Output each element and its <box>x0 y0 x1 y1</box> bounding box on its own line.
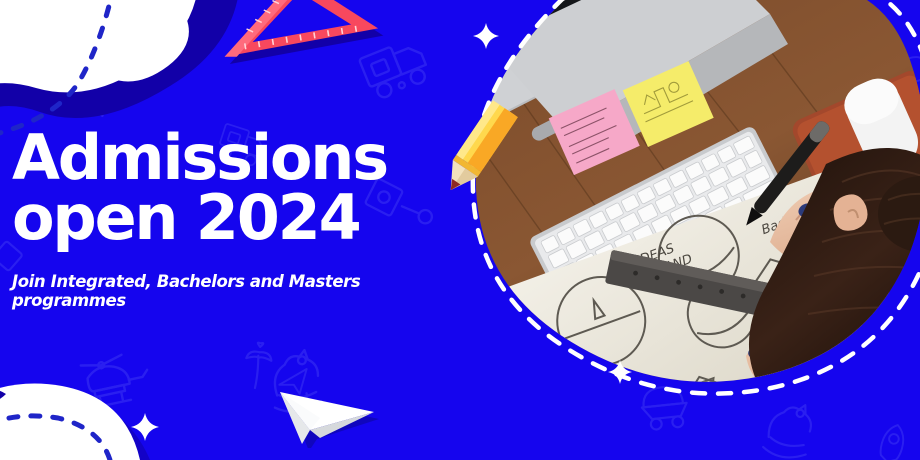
desk-photo: IDEAS BRAND Badge shapes? Oval <box>470 0 920 404</box>
rocking-horse-icon <box>268 349 323 415</box>
helicopter-icon <box>80 350 152 408</box>
rocking-horse-icon <box>762 399 814 460</box>
admissions-banner: IDEAS BRAND Badge shapes? Oval <box>0 0 920 460</box>
palm-tree-icon <box>243 342 273 390</box>
top-left-white-blob-lobe <box>79 0 188 82</box>
top-left-white-blob <box>0 0 199 108</box>
triangle-ruler-icon <box>208 0 398 76</box>
top-left-blob-shadow <box>0 0 240 130</box>
dashed-path <box>0 0 118 140</box>
bottom-left-blob-shadow <box>0 387 150 460</box>
paper-plane-icon <box>276 382 380 448</box>
bottom-left-navy-sliver <box>0 389 6 406</box>
banner-copy: Admissions open 2024 Join Integrated, Ba… <box>12 128 472 310</box>
dashed-path <box>0 416 110 460</box>
page-title: Admissions open 2024 <box>12 128 472 248</box>
rocket-icon <box>57 53 119 125</box>
toy-train-icon <box>359 37 431 101</box>
paper-plane-icon <box>278 369 309 396</box>
bottom-left-white-blob <box>0 384 140 460</box>
toy-blocks-icon <box>24 424 75 452</box>
rocket-icon <box>877 422 908 460</box>
toy-train-icon <box>121 2 157 42</box>
page-subtitle: Join Integrated, Bachelors and Masters p… <box>12 272 472 310</box>
sparkle-star-icon <box>131 413 159 441</box>
